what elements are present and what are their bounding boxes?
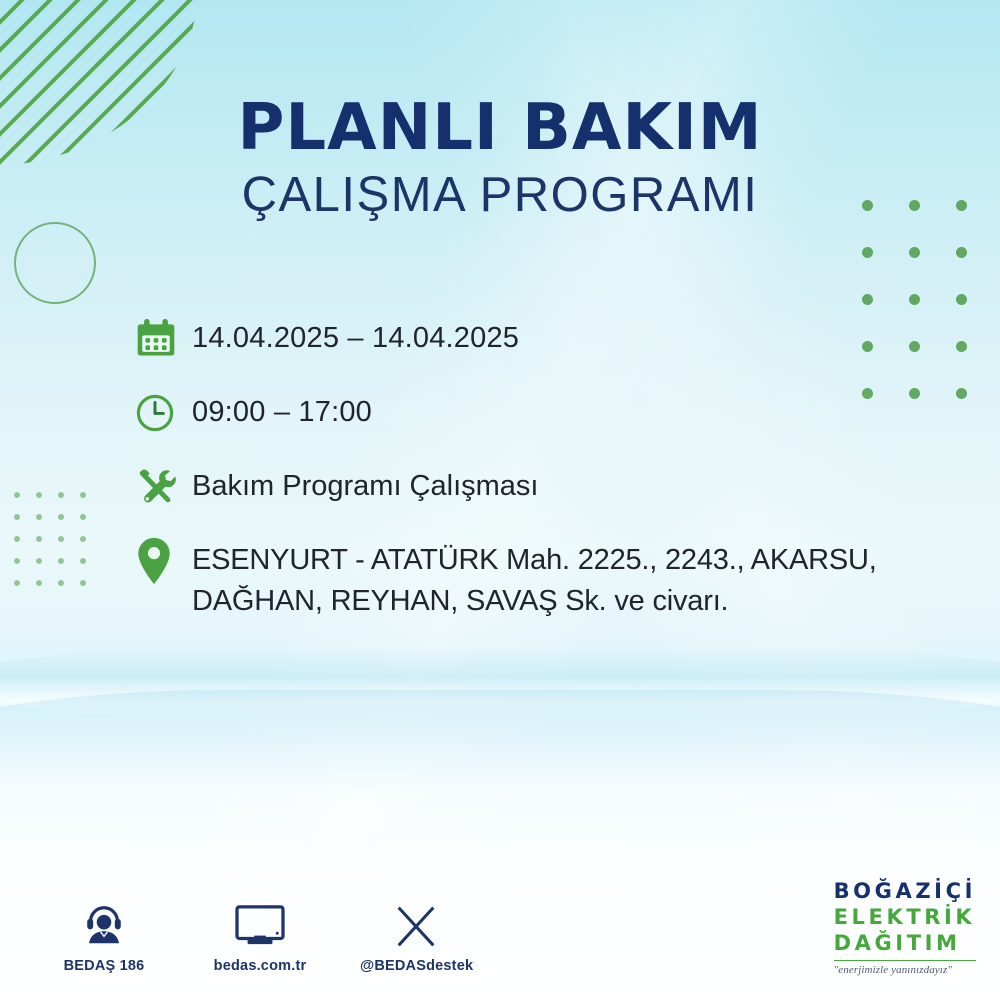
background-wave-band-secondary: [0, 690, 1000, 810]
map-pin-icon: [134, 534, 192, 588]
x-twitter-icon: [360, 899, 472, 949]
maintenance-details-list: 14.04.2025 – 14.04.2025 09:00 – 17:00: [134, 312, 964, 642]
contact-phone-label: BEDAŞ 186: [48, 958, 160, 974]
monitor-icon: [204, 899, 316, 949]
logo-line-dagitim: DAĞITIM: [834, 933, 976, 954]
brand-logo: BOĞAZİÇİ ELEKTRİK DAĞITIM "enerjimizle y…: [834, 881, 976, 977]
contact-social-label: @BEDASdestek: [360, 958, 472, 974]
background-wave-band: [0, 648, 1000, 718]
logo-tagline: "enerjimizle yanınızdayız": [834, 965, 976, 976]
support-agent-icon: [48, 899, 160, 949]
title-line-secondary: ÇALIŞMA PROGRAMI: [0, 170, 1000, 221]
detail-row-location: ESENYURT - ATATÜRK Mah. 2225., 2243., AK…: [134, 534, 964, 622]
contact-website-label: bedas.com.tr: [204, 958, 316, 974]
location-line-1: ESENYURT - ATATÜRK Mah. 2225., 2243., AK…: [192, 540, 877, 581]
detail-row-date: 14.04.2025 – 14.04.2025: [134, 312, 964, 366]
poster-canvas: PLANLI BAKIM ÇALIŞMA PROGRAMI: [0, 0, 1000, 1000]
footer-contact-strip: BEDAŞ 186 bedas.com.tr: [48, 899, 472, 974]
detail-value-work-type: Bakım Programı Çalışması: [192, 460, 538, 507]
detail-value-time: 09:00 – 17:00: [192, 386, 372, 433]
detail-row-time: 09:00 – 17:00: [134, 386, 964, 440]
tools-icon: [134, 460, 192, 514]
location-line-2: DAĞHAN, REYHAN, SAVAŞ Sk. ve civarı.: [192, 581, 877, 622]
page-title: PLANLI BAKIM ÇALIŞMA PROGRAMI: [0, 96, 1000, 221]
contact-phone[interactable]: BEDAŞ 186: [48, 899, 160, 974]
logo-line-bogazici: BOĞAZİÇİ: [834, 881, 976, 902]
detail-row-work-type: Bakım Programı Çalışması: [134, 460, 964, 514]
detail-value-date: 14.04.2025 – 14.04.2025: [192, 312, 519, 359]
dot-grid-left-decoration: [14, 492, 102, 602]
title-line-primary: PLANLI BAKIM: [0, 96, 1000, 160]
logo-divider: [834, 960, 976, 962]
logo-line-elektrik: ELEKTRİK: [834, 907, 976, 928]
clock-icon: [134, 386, 192, 440]
contact-social[interactable]: @BEDASdestek: [360, 899, 472, 974]
circle-outline-decoration: [14, 222, 96, 304]
detail-value-location: ESENYURT - ATATÜRK Mah. 2225., 2243., AK…: [192, 534, 877, 622]
corner-stripes-decoration: [0, 0, 203, 168]
contact-website[interactable]: bedas.com.tr: [204, 899, 316, 974]
calendar-icon: [134, 312, 192, 366]
